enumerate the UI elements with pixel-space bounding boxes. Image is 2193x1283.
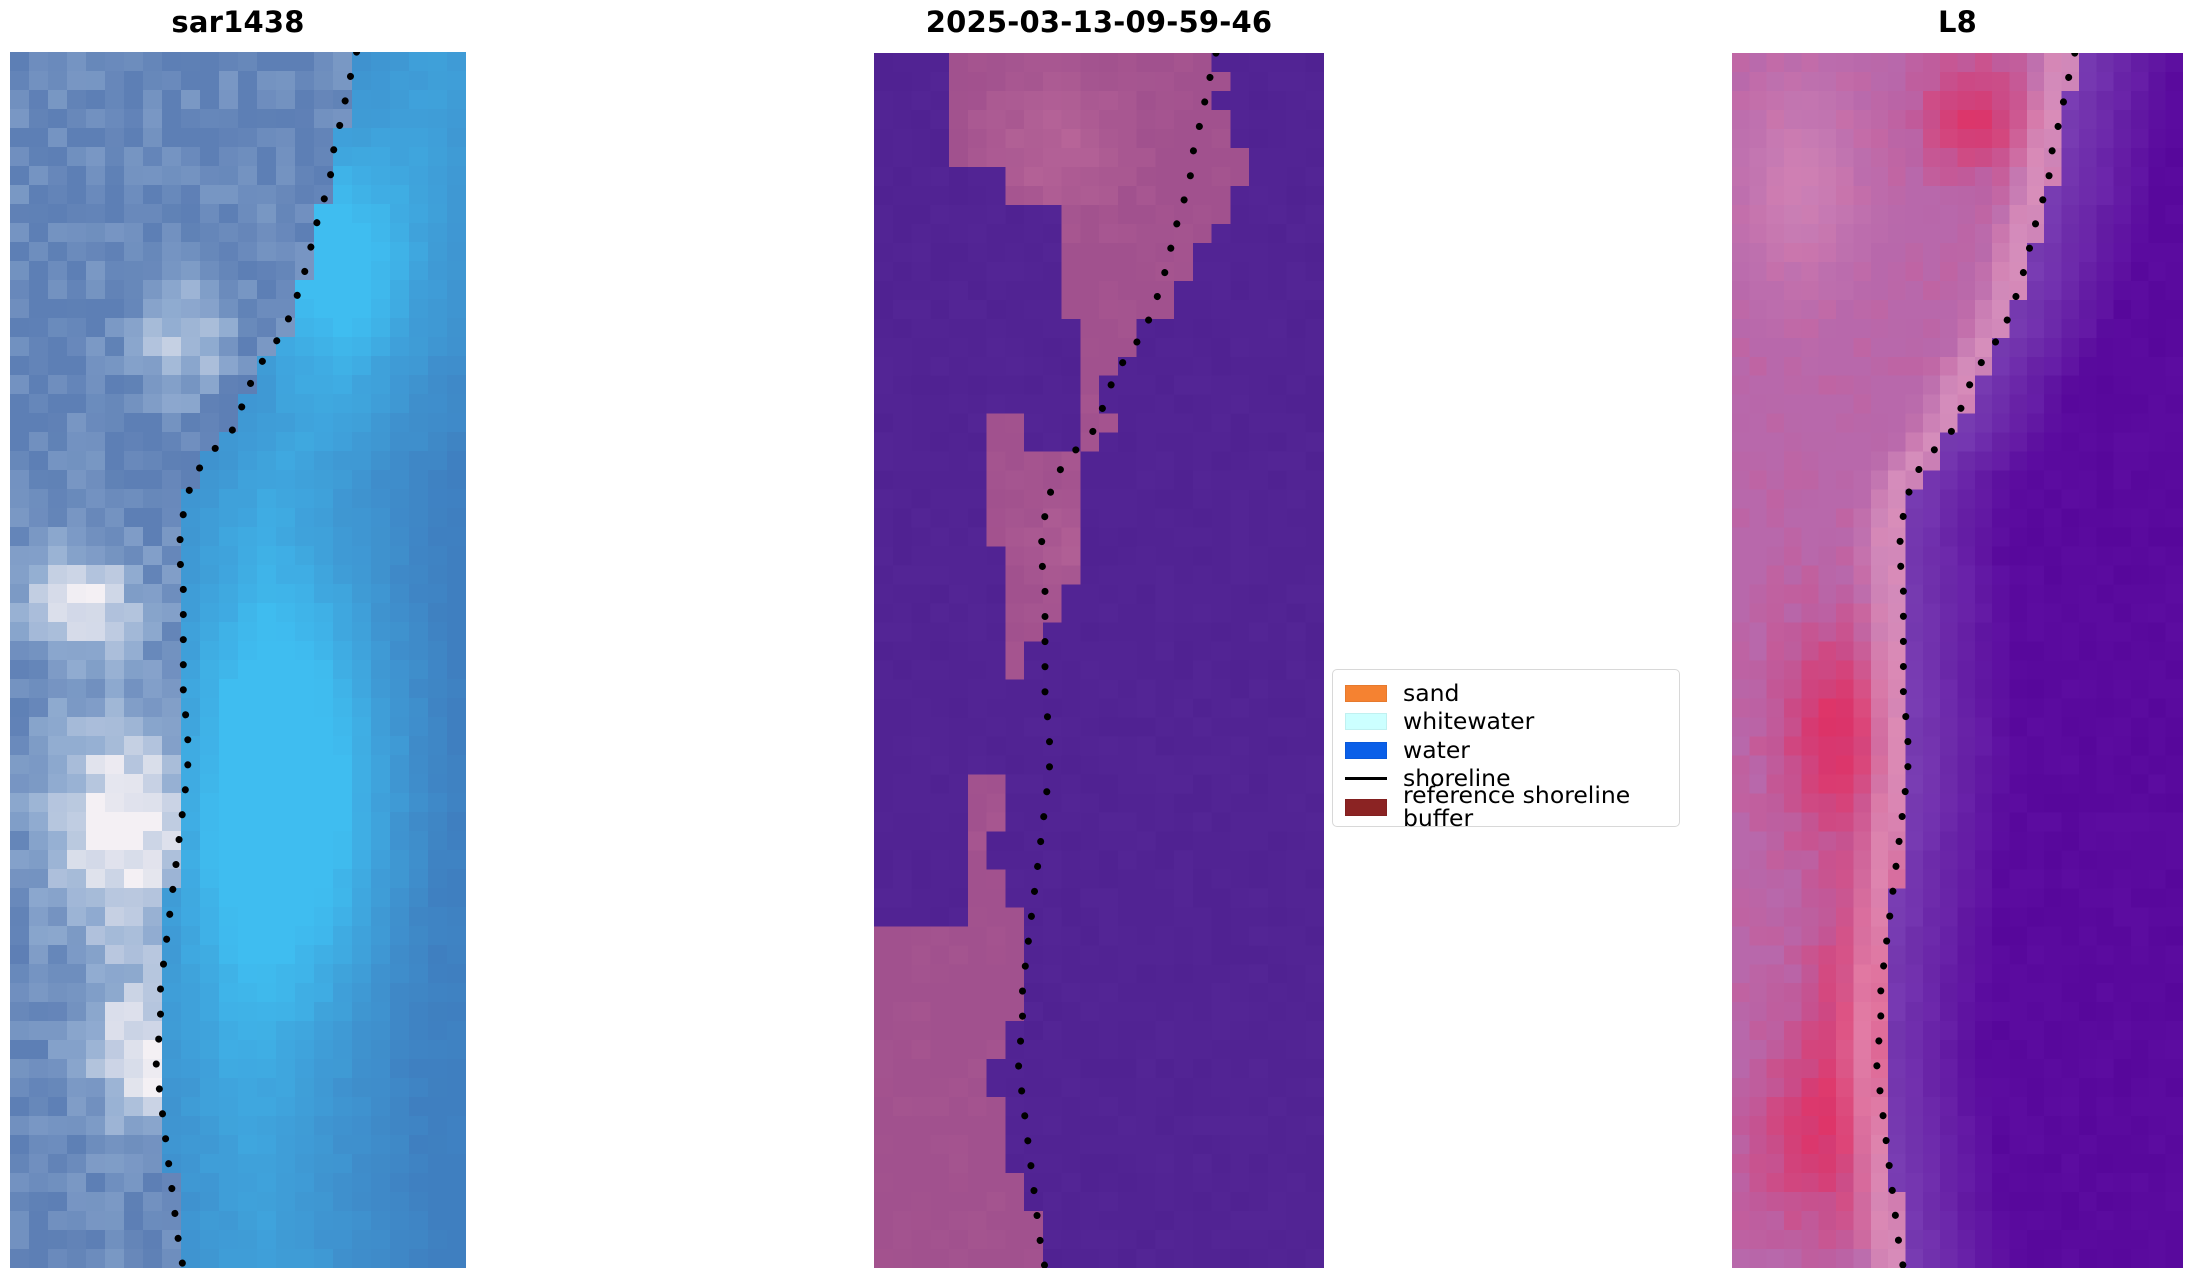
legend-label-reference-shoreline-buffer: reference shoreline buffer (1403, 784, 1669, 831)
legend-label-sand: sand (1403, 682, 1459, 706)
legend-label-whitewater: whitewater (1403, 710, 1534, 734)
panel-l8: L8 (1732, 0, 2183, 1283)
legend-swatch-shoreline-icon (1345, 777, 1387, 780)
legend-item-reference-shoreline-buffer: reference shoreline buffer (1345, 793, 1669, 822)
panel-classification: 2025-03-13-09-59-46 (874, 0, 1324, 1283)
legend-item-water: water (1345, 736, 1669, 765)
figure-canvas: sar1438 2025-03-13-09-59-46 L8 (0, 0, 2193, 1283)
raster-classification (874, 53, 1324, 1268)
legend-box: sand whitewater water shoreline referenc… (1332, 669, 1680, 827)
raster-l8 (1732, 53, 2183, 1268)
legend-swatch-sand-icon (1345, 685, 1387, 702)
legend-swatch-water-icon (1345, 742, 1387, 759)
raster-sar1438 (10, 52, 466, 1268)
panel-title-l8: L8 (1732, 5, 2183, 39)
shoreline-overlay-sar1438 (10, 52, 466, 1268)
panel-title-sar1438: sar1438 (10, 5, 466, 39)
panel-title-classification: 2025-03-13-09-59-46 (874, 5, 1324, 39)
legend-swatch-reference-buffer-icon (1345, 799, 1387, 816)
legend-item-whitewater: whitewater (1345, 708, 1669, 737)
legend-swatch-whitewater-icon (1345, 713, 1387, 730)
legend-item-sand: sand (1345, 679, 1669, 708)
shoreline-overlay-classification (874, 53, 1324, 1268)
panel-sar1438: sar1438 (10, 0, 466, 1283)
legend-label-water: water (1403, 739, 1470, 763)
shoreline-overlay-l8 (1732, 53, 2183, 1268)
